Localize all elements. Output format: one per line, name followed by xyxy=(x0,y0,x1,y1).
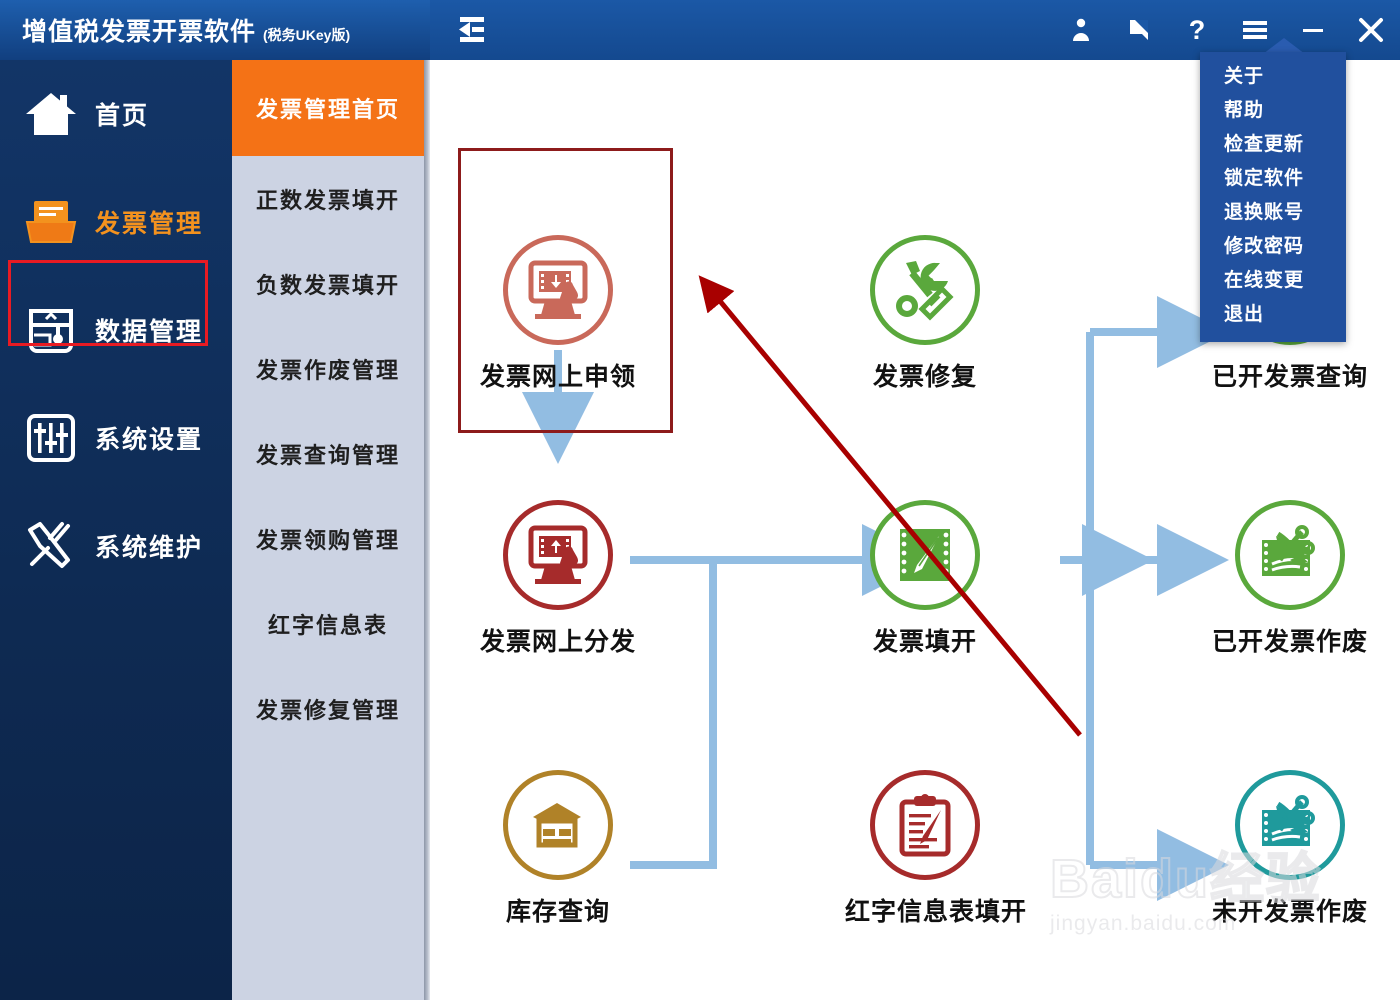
warehouse-search-icon xyxy=(503,770,613,880)
collapse-sidebar-icon[interactable] xyxy=(452,12,492,48)
flow-node-red-info-table-issue[interactable]: 红字信息表填开 xyxy=(845,770,1005,928)
flow-node-label: 发票修复 xyxy=(845,357,1005,393)
menu-item-exit[interactable]: 退出 xyxy=(1200,298,1346,332)
submenu-item-red-info-table[interactable]: 红字信息表 xyxy=(232,581,424,666)
app-title: 增值税发票开票软件 xyxy=(22,12,256,48)
sidebar-item-label: 首页 xyxy=(95,96,149,132)
submenu-item-invoice-void[interactable]: 发票作废管理 xyxy=(232,326,424,411)
flow-node-label: 发票填开 xyxy=(845,622,1005,658)
menu-item-change-password[interactable]: 修改密码 xyxy=(1200,230,1346,264)
user-icon[interactable] xyxy=(1052,0,1110,60)
main-dropdown-menu: 关于 帮助 检查更新 锁定软件 退换账号 修改密码 在线变更 退出 xyxy=(1200,52,1346,342)
app-subtitle: (税务UKey版) xyxy=(263,25,350,45)
flow-node-label: 发票网上分发 xyxy=(478,622,638,658)
submenu-item-invoice-repair[interactable]: 发票修复管理 xyxy=(232,666,424,751)
flow-node-label: 库存查询 xyxy=(478,892,638,928)
menu-item-about[interactable]: 关于 xyxy=(1200,60,1346,94)
sidebar: 首页 发票管理 xyxy=(0,60,232,1000)
invoice-pen-icon xyxy=(870,500,980,610)
home-icon xyxy=(24,87,78,141)
database-icon xyxy=(24,303,78,357)
window-controls: ? xyxy=(1052,0,1400,60)
invoice-scissors-icon xyxy=(1235,770,1345,880)
title-bar: 增值税发票开票软件 (税务UKey版) xyxy=(0,0,1400,60)
sidebar-item-system-maintenance[interactable]: 系统维护 xyxy=(0,492,232,600)
flow-node-label: 发票网上申领 xyxy=(478,357,638,393)
sidebar-item-system-settings[interactable]: 系统设置 xyxy=(0,384,232,492)
monitor-download-icon xyxy=(503,235,613,345)
wrench-screwdriver-icon xyxy=(870,235,980,345)
menu-item-switch-account[interactable]: 退换账号 xyxy=(1200,196,1346,230)
sidebar-item-label: 系统维护 xyxy=(95,528,203,564)
tools-icon xyxy=(24,519,78,573)
title-brand-area: 增值税发票开票软件 (税务UKey版) xyxy=(0,0,430,60)
menu-item-help[interactable]: 帮助 xyxy=(1200,94,1346,128)
clipboard-pen-icon xyxy=(870,770,980,880)
flow-node-label: 未开发票作废 xyxy=(1210,892,1370,928)
menu-item-lock[interactable]: 锁定软件 xyxy=(1200,162,1346,196)
sidebar-item-invoice-management[interactable]: 发票管理 xyxy=(0,168,232,276)
sidebar-item-label: 系统设置 xyxy=(95,420,203,456)
sidebar-item-data-management[interactable]: 数据管理 xyxy=(0,276,232,384)
invoice-tray-icon xyxy=(24,195,78,249)
application-window: 增值税发票开票软件 (税务UKey版) xyxy=(0,0,1400,1000)
submenu-item-invoice-home[interactable]: 发票管理首页 xyxy=(232,60,424,156)
sidebar-item-home[interactable]: 首页 xyxy=(0,60,232,168)
submenu-item-negative-invoice[interactable]: 负数发票填开 xyxy=(232,241,424,326)
flow-node-stock-query[interactable]: 库存查询 xyxy=(478,770,638,928)
invoice-scissors-icon xyxy=(1235,500,1345,610)
flow-node-invoice-repair[interactable]: 发票修复 xyxy=(845,235,1005,393)
sidebar-item-label: 发票管理 xyxy=(95,204,203,240)
flow-node-label: 已开发票作废 xyxy=(1210,622,1370,658)
flow-node-issued-invoice-void[interactable]: 已开发票作废 xyxy=(1210,500,1370,658)
help-icon[interactable]: ? xyxy=(1168,0,1226,60)
submenu-item-positive-invoice[interactable]: 正数发票填开 xyxy=(232,156,424,241)
bookmark-flag-icon[interactable] xyxy=(1110,0,1168,60)
close-icon[interactable] xyxy=(1342,0,1400,60)
submenu-item-invoice-purchase[interactable]: 发票领购管理 xyxy=(232,496,424,581)
sidebar-item-label: 数据管理 xyxy=(95,312,203,348)
flow-node-label: 红字信息表填开 xyxy=(845,892,1005,928)
help-glyph: ? xyxy=(1189,17,1206,44)
flow-node-invoice-issue[interactable]: 发票填开 xyxy=(845,500,1005,658)
menu-item-online-change[interactable]: 在线变更 xyxy=(1200,264,1346,298)
menu-item-check-update[interactable]: 检查更新 xyxy=(1200,128,1346,162)
flow-node-label: 已开发票查询 xyxy=(1210,357,1370,393)
flow-node-invoice-online-distribute[interactable]: 发票网上分发 xyxy=(478,500,638,658)
sliders-icon xyxy=(24,411,78,465)
submenu-item-invoice-query[interactable]: 发票查询管理 xyxy=(232,411,424,496)
flow-node-invoice-online-apply[interactable]: 发票网上申领 xyxy=(478,235,638,393)
submenu-panel: 发票管理首页 正数发票填开 负数发票填开 发票作废管理 发票查询管理 发票领购管… xyxy=(232,60,424,1000)
flow-node-unissued-invoice-void[interactable]: 未开发票作废 xyxy=(1210,770,1370,928)
monitor-upload-icon xyxy=(503,500,613,610)
